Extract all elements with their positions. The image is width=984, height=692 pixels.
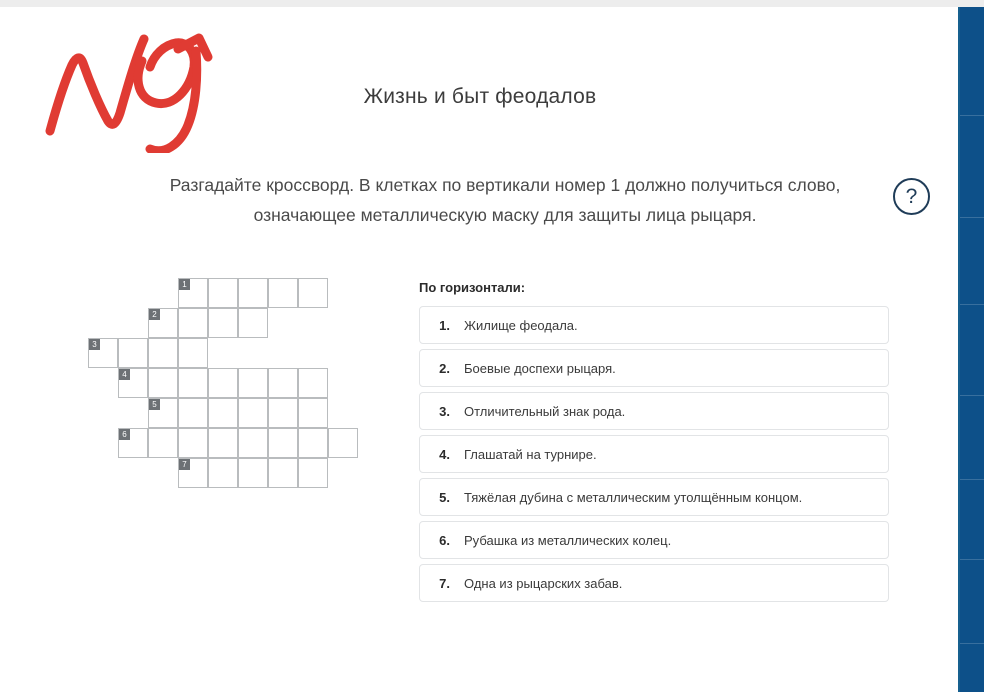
- crossword-cell[interactable]: [268, 458, 298, 488]
- crossword-cell[interactable]: [208, 398, 238, 428]
- clue-number: 2.: [420, 361, 452, 376]
- crossword-cell[interactable]: [148, 338, 178, 368]
- clue-number: 7.: [420, 576, 452, 591]
- crossword-cell[interactable]: [178, 398, 208, 428]
- crossword-cell[interactable]: [148, 368, 178, 398]
- crossword-number: 5: [149, 399, 160, 410]
- clue-text: Одна из рыцарских забав.: [452, 576, 622, 591]
- clue-item-3[interactable]: 3. Отличительный знак рода.: [419, 392, 889, 430]
- crossword-number: 2: [149, 309, 160, 320]
- crossword-number: 7: [179, 459, 190, 470]
- clue-text: Глашатай на турнире.: [452, 447, 597, 462]
- clue-text: Тяжёлая дубина с металлическим утолщённы…: [452, 490, 802, 505]
- clue-item-6[interactable]: 6. Рубашка из металлических колец.: [419, 521, 889, 559]
- clues-heading: По горизонтали:: [419, 280, 889, 295]
- clue-item-1[interactable]: 1. Жилище феодала.: [419, 306, 889, 344]
- crossword-cell[interactable]: [208, 458, 238, 488]
- rail-divider: [960, 559, 984, 560]
- crossword-number: 4: [119, 369, 130, 380]
- crossword-cell[interactable]: [238, 428, 268, 458]
- clue-number: 6.: [420, 533, 452, 548]
- rail-divider: [960, 643, 984, 644]
- crossword-cell[interactable]: [118, 338, 148, 368]
- crossword-cell[interactable]: [238, 308, 268, 338]
- clue-item-4[interactable]: 4. Глашатай на турнире.: [419, 435, 889, 473]
- crossword-cell[interactable]: [268, 368, 298, 398]
- crossword-cell[interactable]: [298, 458, 328, 488]
- rail-divider: [960, 217, 984, 218]
- crossword-cell[interactable]: [268, 398, 298, 428]
- clue-text: Жилище феодала.: [452, 318, 578, 333]
- crossword-cell[interactable]: [178, 308, 208, 338]
- crossword-cell[interactable]: [148, 428, 178, 458]
- clues-panel: По горизонтали: 1. Жилище феодала. 2. Бо…: [419, 280, 889, 607]
- clue-text: Отличительный знак рода.: [452, 404, 625, 419]
- crossword-grid[interactable]: 1 2 3 4 5: [0, 7, 420, 567]
- crossword-cell[interactable]: [268, 278, 298, 308]
- crossword-cell[interactable]: [298, 398, 328, 428]
- crossword-number: 1: [179, 279, 190, 290]
- crossword-cell[interactable]: [238, 398, 268, 428]
- right-rail[interactable]: [958, 7, 984, 692]
- clue-item-7[interactable]: 7. Одна из рыцарских забав.: [419, 564, 889, 602]
- clue-item-2[interactable]: 2. Боевые доспехи рыцаря.: [419, 349, 889, 387]
- crossword-cell[interactable]: [328, 428, 358, 458]
- clue-text: Боевые доспехи рыцаря.: [452, 361, 616, 376]
- clue-number: 1.: [420, 318, 452, 333]
- crossword-cell[interactable]: [178, 428, 208, 458]
- clue-number: 4.: [420, 447, 452, 462]
- rail-divider: [960, 304, 984, 305]
- rail-divider: [960, 479, 984, 480]
- crossword-cell[interactable]: [298, 428, 328, 458]
- crossword-number: 6: [119, 429, 130, 440]
- page-content: Жизнь и быт феодалов Разгадайте кроссвор…: [0, 7, 960, 692]
- crossword-cell[interactable]: [238, 458, 268, 488]
- rail-divider: [960, 395, 984, 396]
- crossword-cell[interactable]: [178, 338, 208, 368]
- crossword-cell[interactable]: [208, 428, 238, 458]
- crossword-cell[interactable]: [238, 368, 268, 398]
- clue-item-5[interactable]: 5. Тяжёлая дубина с металлическим утолщё…: [419, 478, 889, 516]
- crossword-cell[interactable]: [268, 428, 298, 458]
- crossword-cell[interactable]: [208, 368, 238, 398]
- crossword-cell[interactable]: [208, 308, 238, 338]
- crossword-cell[interactable]: [298, 278, 328, 308]
- clue-text: Рубашка из металлических колец.: [452, 533, 671, 548]
- rail-divider: [960, 115, 984, 116]
- crossword-cell[interactable]: [298, 368, 328, 398]
- top-band: [0, 0, 984, 7]
- crossword-cell[interactable]: [208, 278, 238, 308]
- crossword-number: 3: [89, 339, 100, 350]
- clue-number: 3.: [420, 404, 452, 419]
- help-icon[interactable]: ?: [893, 178, 930, 215]
- crossword-cell[interactable]: [238, 278, 268, 308]
- clue-number: 5.: [420, 490, 452, 505]
- crossword-cell[interactable]: [178, 368, 208, 398]
